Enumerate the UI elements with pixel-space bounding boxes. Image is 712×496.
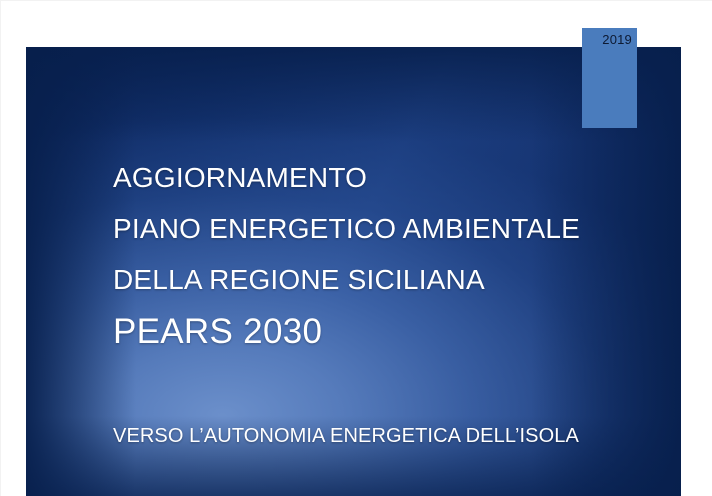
subtitle-line-1: VERSO L’AUTONOMIA ENERGETICA DELL’ISOLA <box>113 422 673 450</box>
title-line-1: AGGIORNAMENTO <box>113 152 673 203</box>
title-line-4: PEARS 2030 <box>113 305 673 358</box>
page-top-rule <box>0 0 712 1</box>
year-badge-label: 2019 <box>602 31 632 48</box>
slide-subtitle: VERSO L’AUTONOMIA ENERGETICA DELL’ISOLA <box>113 422 673 450</box>
slide-title: AGGIORNAMENTO PIANO ENERGETICO AMBIENTAL… <box>113 152 673 358</box>
page-left-rule <box>0 0 1 496</box>
document-page: AGGIORNAMENTO PIANO ENERGETICO AMBIENTAL… <box>0 0 712 496</box>
title-line-3: DELLA REGIONE SICILIANA <box>113 254 673 305</box>
year-badge: 2019 <box>582 28 637 128</box>
title-line-2: PIANO ENERGETICO AMBIENTALE <box>113 203 673 254</box>
